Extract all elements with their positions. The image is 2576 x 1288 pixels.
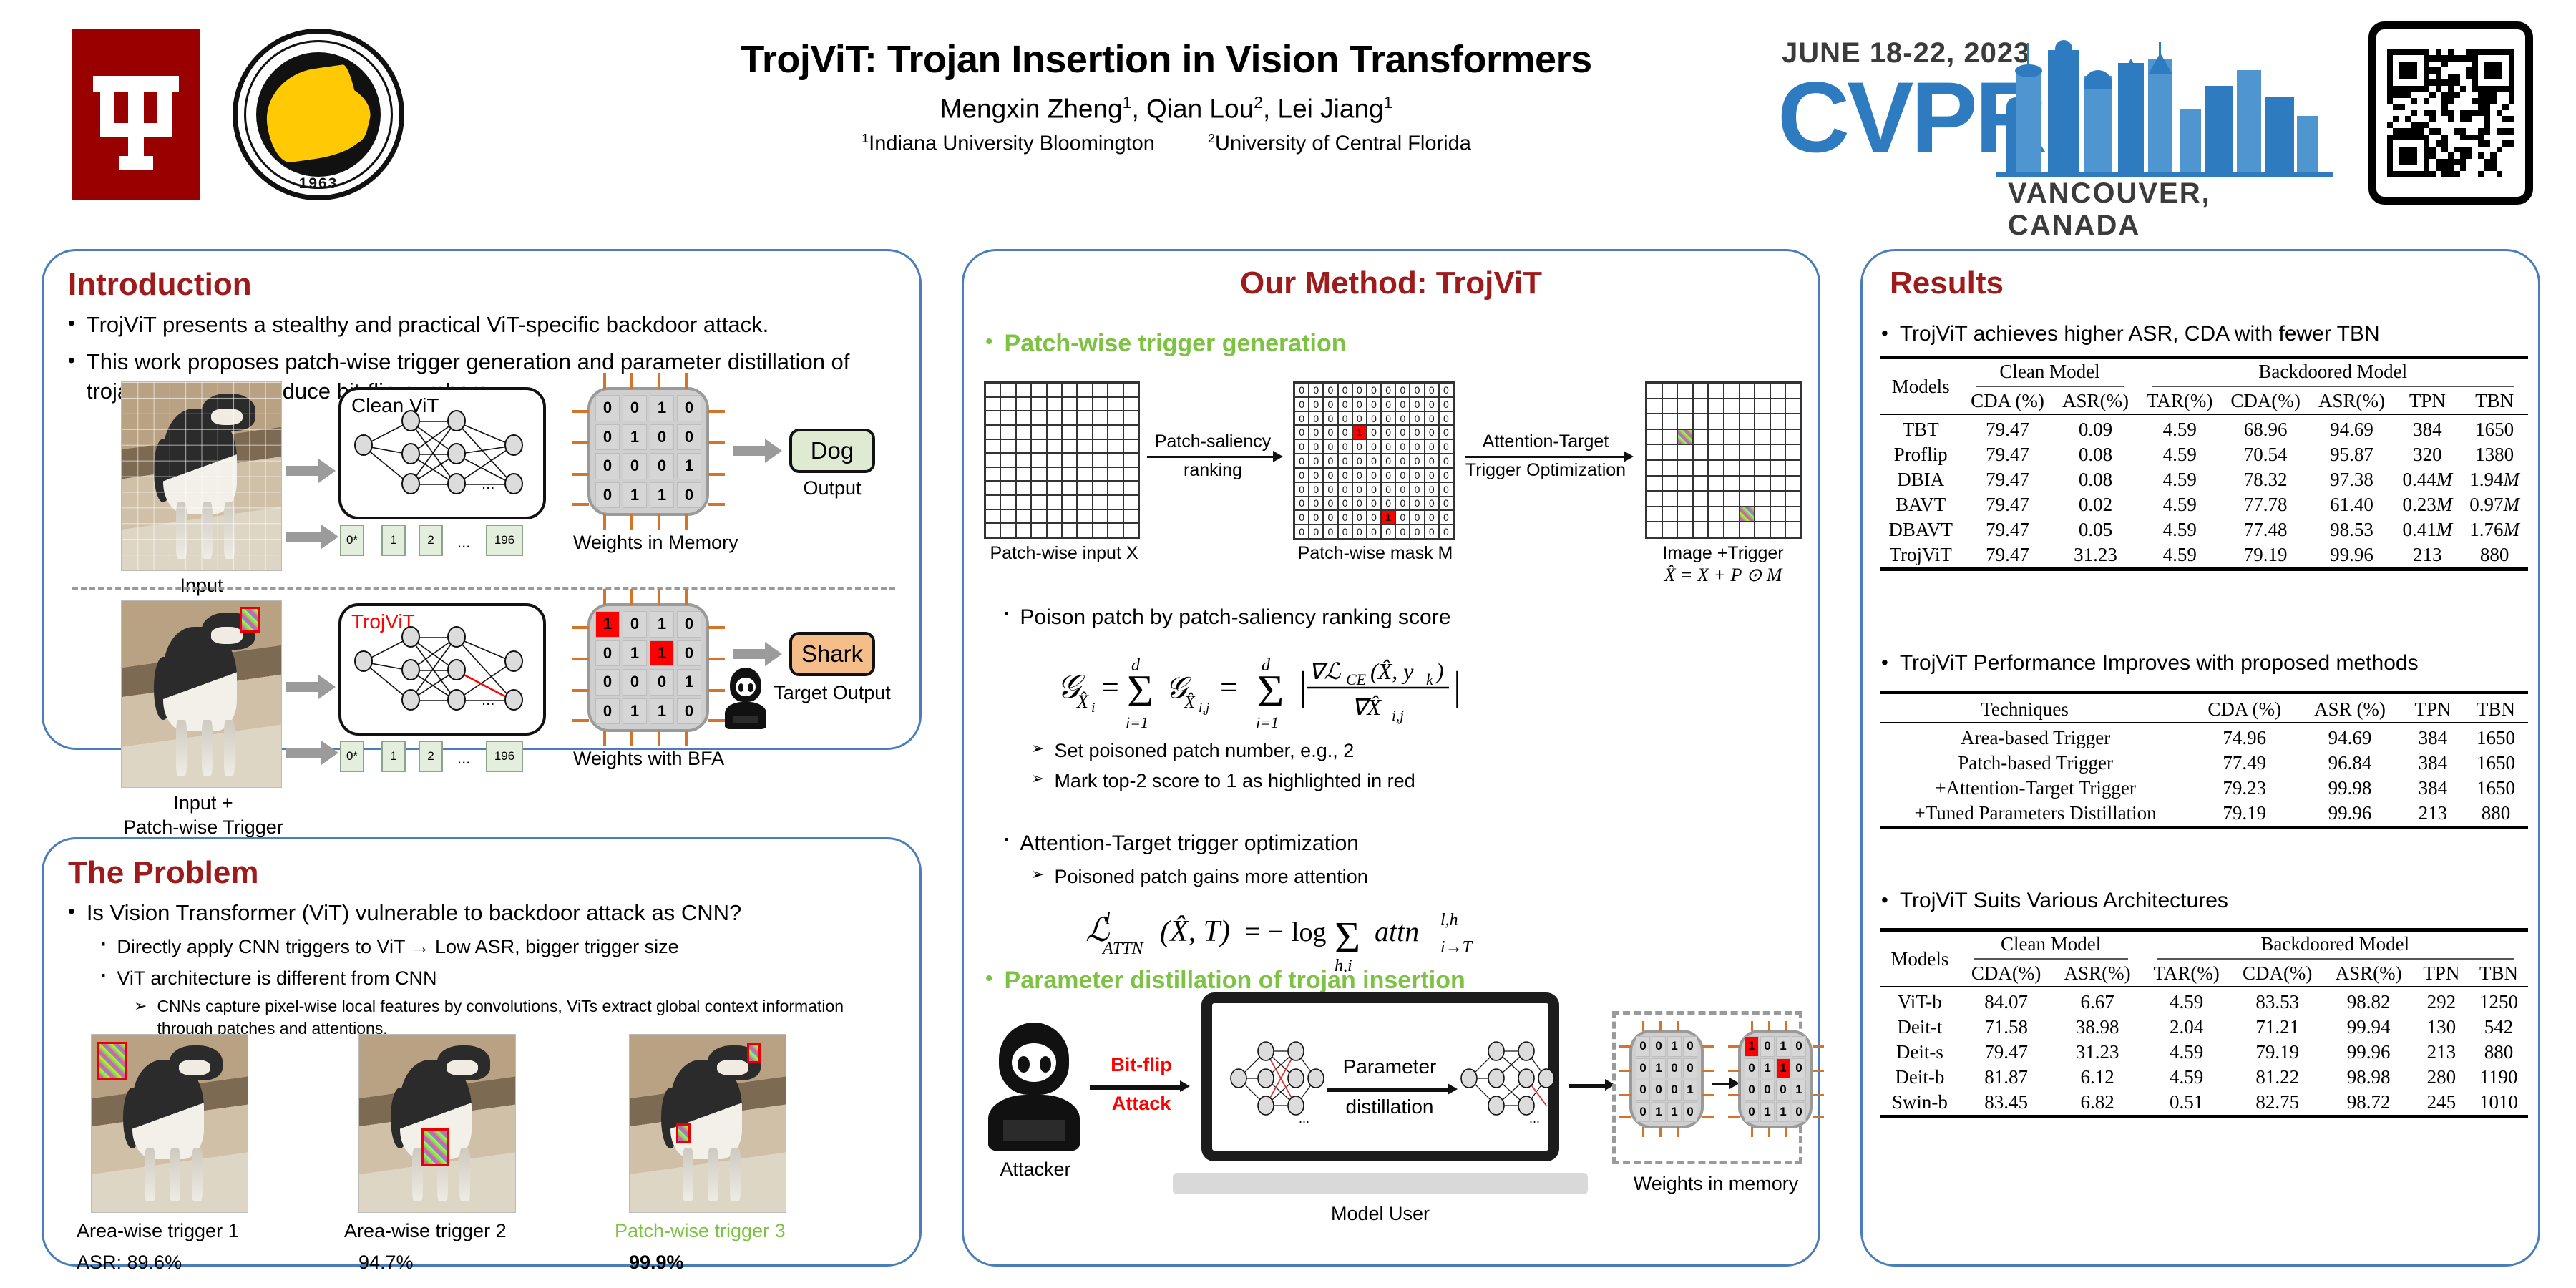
arrow-icon [1090, 1085, 1181, 1090]
network-after-distillation: ... [1458, 1031, 1558, 1128]
intro-bullet-1: • TrojViT presents a stealthy and practi… [68, 310, 895, 340]
method-sub-mark-top2: ➢ Mark top-2 score to 1 as highlighted i… [1031, 768, 1747, 794]
trigger-asr-3: 99.9% [629, 1252, 815, 1274]
attention-loss-equation: ℒ l ATTN (X̂, T) = − log Σ h,i attn l,h … [1085, 894, 1672, 976]
image-trigger-equation: X̂ = X + P ⊙ M [1629, 565, 1817, 586]
bullet-arrow-icon: ➢ [1031, 768, 1044, 794]
method-bullet-poison: ▪ Poison patch by patch-saliency ranking… [1004, 603, 1719, 633]
table-row: Deit-t71.5838.982.0471.2199.94130542 [1880, 1015, 2528, 1040]
patch-grid-overlay [122, 382, 281, 570]
bullet-square-icon: ▪ [101, 934, 105, 960]
results-table-2-wrapper: TechniquesCDA (%)ASR (%)TPNTBNArea-based… [1880, 691, 2528, 830]
arrow-icon [286, 748, 323, 758]
table-row: TrojViT79.4731.234.5979.1999.96213880 [1880, 542, 2528, 570]
clean-output-box: Dog [789, 429, 875, 473]
network-edges [341, 606, 549, 738]
patch-trigger-marker [676, 1123, 691, 1143]
qr-code-icon[interactable] [2368, 21, 2533, 205]
problem-bullet-1: • Is Vision Transformer (ViT) vulnerable… [68, 898, 895, 928]
token-2: 2 [419, 525, 443, 556]
method-sub-set-patch: ➢ Set poisoned patch number, e.g., 2 [1031, 738, 1747, 763]
ellipsis: ... [457, 749, 470, 768]
results-panel: Results • TrojViT achieves higher ASR, C… [1860, 249, 2540, 1267]
token-0: 0* [340, 525, 364, 556]
token-1: 1 [381, 525, 406, 556]
attacker-label: Attacker [978, 1158, 1093, 1181]
bullet-square-icon: ▪ [1004, 603, 1008, 633]
page-title: TrojViT: Trojan Insertion in Vision Tran… [594, 37, 1739, 82]
table-row: DBAVT79.470.054.5977.4898.530.41M1.76M [1880, 517, 2528, 542]
results-table-1-wrapper: ModelsClean ModelBackdoored ModelCDA (%)… [1880, 356, 2528, 572]
clean-weights-caption: Weights in Memory [573, 532, 759, 554]
svg-text:|: | [1299, 664, 1307, 708]
problem-title: The Problem [68, 855, 895, 891]
cvpr-logo: JUNE 18-22, 2023 CVPR VANCOUVER, CANADA [1782, 26, 2340, 212]
attacker-icon [725, 668, 766, 729]
svg-text:X̂: X̂ [1076, 691, 1089, 712]
results-bullet-3: • TrojViT Suits Various Architectures [1881, 887, 2525, 915]
table-row: Swin-b83.456.820.5182.7598.722451010 [1880, 1090, 2528, 1117]
method-title: Our Method: TrojViT [964, 265, 1818, 301]
bullet-dot-icon: • [1881, 887, 1888, 915]
patch-mask-grid: 0000000000000000000000000000000000000100… [1293, 381, 1455, 540]
vancouver-skyline-icon [1996, 37, 2333, 177]
clean-input-image [121, 381, 282, 571]
bullet-dot-icon: • [1881, 320, 1888, 348]
poster-root: 1963 TrojViT: Trojan Insertion in Vision… [0, 0, 2576, 1288]
bullet-dot-icon: • [68, 898, 75, 928]
author-3: Lei Jiang [1278, 94, 1384, 123]
attn-arrow-label-bot: Trigger Optimization [1449, 460, 1642, 481]
trojan-input-image [121, 600, 282, 788]
introduction-title: Introduction [68, 267, 895, 303]
trojvit-box: TrojViT ... [338, 603, 546, 736]
table-row: DBIA79.470.084.5978.3297.380.44M1.94M [1880, 467, 2528, 492]
bfa-weights-caption: Weights with BFA [573, 748, 774, 770]
table-row: Deit-s79.4731.234.5979.1999.96213880 [1880, 1040, 2528, 1065]
table-row: ViT-b84.076.674.5983.5398.822921250 [1880, 990, 2528, 1015]
svg-text:...: ... [1529, 1111, 1540, 1126]
table-row: Deit-b81.876.124.5981.2298.982801190 [1880, 1065, 2528, 1090]
ellipsis: ... [457, 533, 470, 552]
token-1: 1 [381, 741, 406, 772]
results-table-2: TechniquesCDA (%)ASR (%)TPNTBNArea-based… [1880, 691, 2528, 830]
table-row: BAVT79.470.024.5977.7861.400.23M0.97M [1880, 492, 2528, 517]
patch-trigger-marker [240, 607, 260, 633]
patch-input-grid [984, 381, 1140, 539]
trigger-caption-3: Patch-wise trigger 3 [615, 1220, 808, 1242]
problem-bullet-3: ▪ ViT architecture is different from CNN [101, 965, 895, 991]
arrow-icon [286, 682, 320, 692]
indiana-university-logo [72, 29, 200, 200]
area-trigger-marker [97, 1042, 128, 1081]
svg-text:j=1: j=1 [1123, 713, 1148, 728]
results-bullet-1: • TrojViT achieves higher ASR, CDA with … [1881, 320, 2525, 348]
trojan-output-box: Shark [789, 632, 875, 676]
trojan-input-caption-1: Input + [99, 792, 307, 814]
svg-text:ATTN: ATTN [1101, 940, 1144, 958]
svg-text:CE: CE [1346, 670, 1367, 688]
table-row: +Attention-Target Trigger79.2399.9838416… [1880, 776, 2528, 801]
arrow-icon [1569, 1084, 1606, 1088]
svg-text:(X̂, T): (X̂, T) [1160, 914, 1230, 948]
table-row: Area-based Trigger74.9694.693841650 [1880, 726, 2528, 751]
bullet-arrow-icon: ➢ [1031, 738, 1044, 763]
clean-weights-memory: 0010 0100 0001 0110 [587, 387, 709, 516]
trigger-example-image-2 [358, 1034, 516, 1213]
method-subsection-2: Parameter distillation of trojan inserti… [1005, 967, 1465, 995]
bitflip-attack-label-2: Attack [1084, 1093, 1199, 1115]
affiliation-1: Indiana University Bloomington [869, 132, 1155, 155]
author-2: Qian Lou [1146, 94, 1254, 123]
clean-vit-box: Clean ViT ... [338, 387, 546, 519]
param-distillation-label-2: distillation [1316, 1096, 1463, 1118]
saliency-equation: 𝒢 X̂ i = d Σ j=1 𝒢 X̂ i,j = d Σ j=1 | ∇ℒ… [1057, 642, 1629, 731]
ucf-year-label: 1963 [299, 175, 338, 192]
arrow-icon [1327, 1088, 1449, 1092]
author-1: Mengxin Zheng [940, 94, 1123, 123]
attacker-icon [988, 1023, 1080, 1151]
svg-text:i→T: i→T [1440, 938, 1473, 957]
svg-text:i,j: i,j [1199, 701, 1209, 716]
svg-text:i: i [1091, 700, 1096, 716]
weights-after-flip: 1010 0110 0001 0110 [1738, 1030, 1813, 1128]
area-trigger-marker [421, 1128, 449, 1166]
ucf-seal-logo: 1963 [233, 29, 404, 200]
clean-input-caption: Input [121, 575, 282, 597]
patch-input-caption: Patch-wise input X [971, 543, 1157, 564]
svg-text:Σ: Σ [1127, 665, 1153, 716]
table-row: TBT79.470.094.5968.9694.693841650 [1880, 417, 2528, 442]
svg-text:i,j: i,j [1392, 707, 1404, 724]
poster-header: 1963 TrojViT: Trojan Insertion in Vision… [0, 0, 2576, 229]
results-table-3: ModelsClean ModelBackdoored ModelCDA(%)A… [1880, 928, 2528, 1120]
trigger-example-image-3 [629, 1034, 786, 1213]
bullet-square-icon: ▪ [101, 965, 105, 991]
model-user-label: Model User [1201, 1203, 1559, 1225]
svg-text:): ) [1435, 658, 1444, 684]
problem-panel: The Problem • Is Vision Transformer (ViT… [42, 837, 922, 1267]
arrow-icon [1147, 456, 1274, 458]
svg-text:X̂: X̂ [1184, 693, 1196, 712]
bitflip-attack-label-1: Bit-flip [1084, 1054, 1199, 1076]
svg-text:...: ... [1299, 1111, 1309, 1126]
trojan-output-caption: Target Output [768, 682, 897, 704]
bullet-arrow-icon: ➢ [1031, 864, 1044, 889]
svg-text:Σ: Σ [1335, 914, 1360, 962]
bullet-square-icon: ▪ [1004, 829, 1008, 859]
trigger-caption-2: Area-wise trigger 2 [344, 1220, 530, 1242]
patch-mask-caption: Patch-wise mask M [1279, 543, 1472, 564]
svg-text:attn: attn [1375, 915, 1419, 947]
introduction-panel: Introduction • TrojViT presents a stealt… [42, 249, 922, 750]
bullet-dot-icon: • [68, 310, 75, 340]
svg-text:k: k [1426, 670, 1434, 688]
author-list: Mengxin Zheng1, Qian Lou2, Lei Jiang1 [594, 93, 1739, 124]
method-panel: Our Method: TrojViT • Patch-wise trigger… [962, 249, 1820, 1267]
svg-text:∇X̂: ∇X̂ [1352, 694, 1382, 720]
method-sub-poison-attn: ➢ Poisoned patch gains more attention [1031, 864, 1747, 889]
table-row: Patch-based Trigger77.4996.843841650 [1880, 751, 2528, 776]
method-subsection-1: Patch-wise trigger generation [1005, 330, 1347, 358]
ellipsis: ... [482, 474, 494, 493]
svg-text:l: l [1106, 909, 1111, 928]
svg-text:Σ: Σ [1257, 665, 1284, 716]
arrow-icon [286, 466, 320, 476]
trigger-asr-1: ASR: 89.6% [77, 1252, 263, 1274]
bullet-dot-icon: • [68, 347, 75, 406]
trojan-input-caption-2: Patch-wise Trigger [99, 816, 307, 839]
trigger-asr-2: 94.7% [358, 1252, 545, 1274]
results-title: Results [1890, 265, 2538, 301]
param-distillation-label-1: Parameter [1322, 1055, 1458, 1078]
svg-text:log: log [1292, 917, 1327, 947]
attn-arrow-label-top: Attention-Target [1456, 431, 1635, 452]
svg-text:=: = [1101, 670, 1119, 705]
token-196: 196 [486, 741, 523, 772]
ellipsis: ... [482, 691, 494, 709]
svg-text:(X̂, y: (X̂, y [1370, 658, 1414, 684]
arrow-icon [733, 649, 766, 659]
cvpr-city-label: VANCOUVER, CANADA [2008, 177, 2340, 242]
results-bullet-2: • TrojViT Performance Improves with prop… [1881, 649, 2525, 678]
divider [72, 587, 895, 590]
arrow-icon [1712, 1083, 1731, 1085]
svg-text:j=1: j=1 [1254, 713, 1279, 728]
clean-output-caption: Output [789, 477, 875, 499]
iu-trident-icon [93, 57, 179, 172]
bullet-dot-icon: • [985, 330, 993, 354]
table-row: +Tuned Parameters Distillation79.1999.96… [1880, 801, 2528, 828]
svg-text:= −: = − [1244, 915, 1284, 947]
bullet-dot-icon: • [985, 967, 993, 991]
table-row: Proflip79.470.084.5970.5495.873201380 [1880, 442, 2528, 467]
image-plus-trigger-grid [1645, 381, 1802, 539]
svg-text:l,h: l,h [1440, 911, 1458, 930]
bullet-dot-icon: • [1881, 649, 1888, 678]
bfa-weights-memory: 1010 0110 0001 0110 [587, 603, 709, 732]
arrow-icon [286, 532, 323, 542]
affiliation-2: University of Central Florida [1215, 132, 1471, 155]
saliency-arrow-label-top: Patch-saliency [1141, 431, 1284, 452]
weights-before-flip: 0010 0100 0001 0110 [1629, 1030, 1704, 1128]
token-2: 2 [419, 741, 443, 772]
weights-memory-label: Weights in memory [1612, 1173, 1820, 1195]
svg-text:=: = [1220, 670, 1238, 705]
results-table-3-wrapper: ModelsClean ModelBackdoored ModelCDA(%)A… [1880, 928, 2528, 1120]
title-block: TrojViT: Trojan Insertion in Vision Tran… [594, 37, 1739, 156]
image-trigger-caption: Image +Trigger [1629, 543, 1817, 564]
method-bullet-attention: ▪ Attention-Target trigger optimization [1004, 829, 1719, 859]
svg-text:∇ℒ: ∇ℒ [1309, 658, 1341, 684]
trigger-caption-1: Area-wise trigger 1 [77, 1220, 263, 1242]
affiliations: 1Indiana University Bloomington 2Univers… [594, 131, 1739, 156]
network-before-distillation: ... [1227, 1031, 1327, 1128]
network-edges [341, 390, 549, 522]
svg-text:|: | [1453, 664, 1461, 708]
problem-bullet-2: ▪ Directly apply CNN triggers to ViT → L… [101, 934, 895, 960]
patch-trigger-marker [747, 1043, 761, 1063]
trigger-example-image-1 [91, 1034, 248, 1213]
token-196: 196 [486, 525, 523, 556]
results-table-1: ModelsClean ModelBackdoored ModelCDA (%)… [1880, 356, 2528, 572]
token-0: 0* [340, 741, 364, 772]
arrow-icon [733, 446, 766, 456]
saliency-arrow-label-bot: ranking [1141, 460, 1284, 481]
arrow-icon [1465, 456, 1625, 458]
